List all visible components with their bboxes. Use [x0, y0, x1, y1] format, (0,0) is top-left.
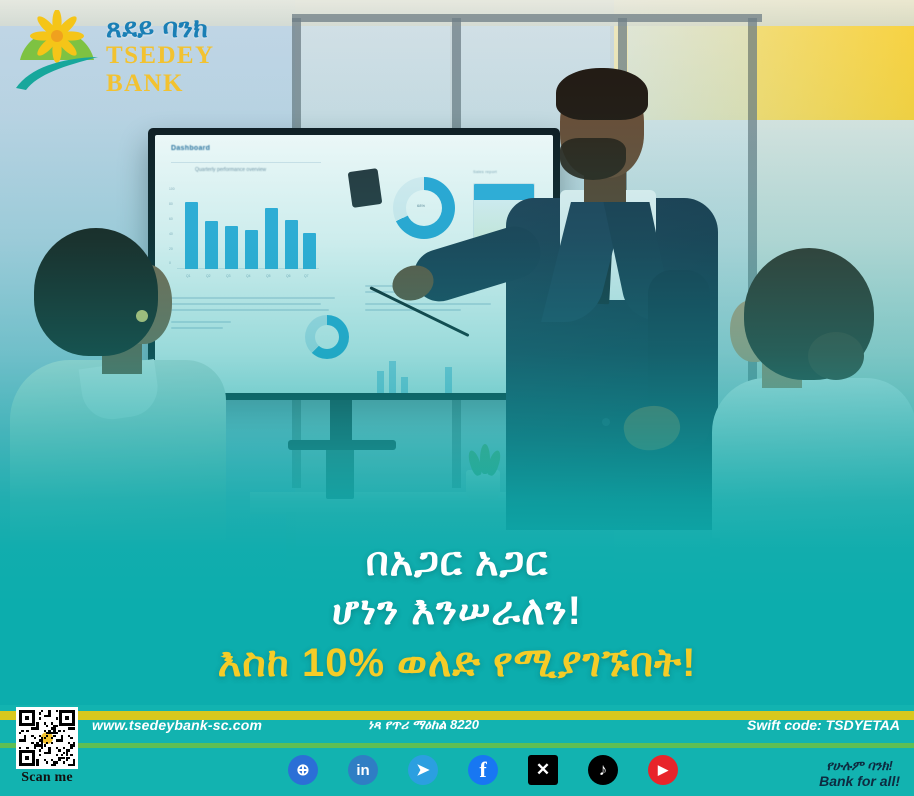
x-tick: Q7 [304, 274, 309, 278]
qr-module [44, 744, 46, 746]
qr-module [39, 717, 41, 719]
mini-bar [389, 361, 396, 393]
window-header-rail [292, 14, 762, 22]
donut-chart-primary [393, 177, 455, 239]
qr-module [53, 735, 55, 737]
website-icon[interactable]: ⊕ [288, 755, 318, 785]
tagline-english: Bank for all! [819, 773, 900, 790]
plant-pot [466, 470, 500, 500]
qr-module [19, 747, 21, 749]
attendee-left [10, 228, 230, 530]
presenter-jacket-button [602, 418, 610, 426]
donut-chart-secondary [305, 315, 349, 359]
mini-bar [445, 367, 452, 393]
qr-module [68, 749, 70, 751]
qr-module [73, 727, 75, 729]
qr-module [51, 742, 53, 744]
donut-value-label: 68% [417, 203, 425, 208]
qr-module [19, 732, 21, 734]
attendee-right-hair-bun [808, 332, 864, 380]
youtube-icon[interactable]: ▶ [648, 755, 678, 785]
qr-module [70, 754, 72, 756]
qr-module [56, 710, 58, 712]
green-stripe [0, 743, 914, 748]
qr-module [56, 717, 58, 719]
qr-module [41, 747, 43, 749]
qr-module [44, 737, 46, 739]
qr-module [70, 737, 72, 739]
qr-module [26, 730, 28, 732]
attendee-right [722, 248, 912, 530]
qr-eye [59, 710, 75, 726]
x-tick: Q5 [266, 274, 271, 278]
qr-module [34, 747, 36, 749]
qr-module [68, 757, 70, 759]
presenter-beard [560, 138, 626, 180]
webcam [348, 168, 383, 208]
headline-line-1: በአጋር አጋር [0, 538, 914, 587]
qr-module [46, 725, 48, 727]
qr-module [41, 710, 43, 712]
qr-module [46, 761, 48, 763]
text-placeholder [365, 303, 491, 305]
brand-logo: ጸደይ ባንክ TSEDEY BANK [14, 6, 294, 92]
qr-module [34, 737, 36, 739]
brand-logo-text: ጸደይ ባንክ TSEDEY BANK [106, 14, 294, 97]
chart-bar [303, 233, 316, 269]
brand-name-amharic: ጸደይ ባንክ [106, 14, 294, 42]
y-tick: 80 [169, 202, 173, 206]
qr-module [36, 727, 38, 729]
facebook-icon[interactable]: f [468, 755, 498, 785]
brand-name-english: TSEDEY BANK [106, 42, 294, 97]
qr-module [63, 761, 65, 763]
attendee-left-hair [34, 228, 158, 356]
telegram-icon[interactable]: ➤ [408, 755, 438, 785]
tiktok-icon[interactable]: ♪ [588, 755, 618, 785]
mini-bar [377, 371, 384, 393]
attendee-right-body [712, 378, 914, 538]
linkedin-icon[interactable]: in [348, 755, 378, 785]
dashboard-divider [171, 162, 321, 163]
tagline-amharic: የሁሉም ባንክ! [819, 758, 900, 773]
qr-module [58, 730, 60, 732]
chart-bar [285, 220, 298, 269]
qr-module [39, 754, 41, 756]
qr-module [21, 730, 23, 732]
website-url[interactable]: www.tsedeybank-sc.com [92, 717, 262, 733]
qr-module [53, 764, 55, 766]
dashboard-title: Dashboard [171, 145, 210, 152]
card-title: Sales report [473, 169, 497, 174]
call-center-text: ነጻ የጥሪ ማዕከል 8220 [368, 717, 479, 733]
mini-bar [401, 377, 408, 393]
tagline-block: የሁሉም ባንክ! Bank for all! [819, 758, 900, 790]
qr-code[interactable] [16, 707, 78, 769]
attendee-left-earring [136, 310, 148, 322]
qr-module [58, 749, 60, 751]
chart-bar [265, 208, 278, 269]
qr-module [51, 737, 53, 739]
presenter-hair [556, 68, 648, 120]
qr-module [39, 712, 41, 714]
headline-line-2: ሆነን እንሠራለን! [0, 587, 914, 636]
swift-code-text: Swift code: TSDYETAA [747, 717, 900, 733]
qr-module [48, 715, 50, 717]
advertisement-poster: Dashboard Quarterly performance overview… [0, 0, 914, 796]
sunflower-arch-icon [14, 10, 100, 90]
headline-line-3: እስከ 10% ወለድ የሚያገኙበት! [0, 638, 914, 688]
qr-module [56, 761, 58, 763]
qr-module [46, 742, 48, 744]
social-media-row: ⊕in➤f✕♪▶ [288, 750, 678, 790]
qr-module [66, 759, 68, 761]
qr-eye [19, 750, 35, 766]
qr-pattern [19, 710, 75, 766]
qr-module [48, 752, 50, 754]
scan-me-label: Scan me [12, 770, 82, 786]
monitor-neck [330, 398, 352, 446]
qr-module [46, 735, 48, 737]
qr-module [36, 764, 38, 766]
qr-eye [19, 710, 35, 726]
qr-module [24, 739, 26, 741]
chart-bar [245, 230, 258, 269]
y-tick: 100 [169, 187, 175, 191]
chart-subtitle: Quarterly performance overview [195, 167, 266, 173]
x-twitter-icon[interactable]: ✕ [528, 755, 558, 785]
qr-module [61, 739, 63, 741]
x-tick: Q4 [246, 274, 251, 278]
y-tick: 60 [169, 217, 173, 221]
qr-module [73, 744, 75, 746]
qr-module [26, 747, 28, 749]
x-tick: Q6 [286, 274, 291, 278]
qr-module [70, 747, 72, 749]
qr-module [63, 730, 65, 732]
monitor-base [288, 440, 396, 450]
qr-module [58, 759, 60, 761]
qr-module [56, 725, 58, 727]
headline-block: በአጋር አጋር ሆነን እንሠራለን! እስከ 10% ወለድ የሚያገኙበት… [0, 538, 914, 688]
qr-block[interactable]: Scan me [12, 707, 82, 786]
qr-module [56, 732, 58, 734]
qr-module [73, 764, 75, 766]
qr-module [39, 749, 41, 751]
